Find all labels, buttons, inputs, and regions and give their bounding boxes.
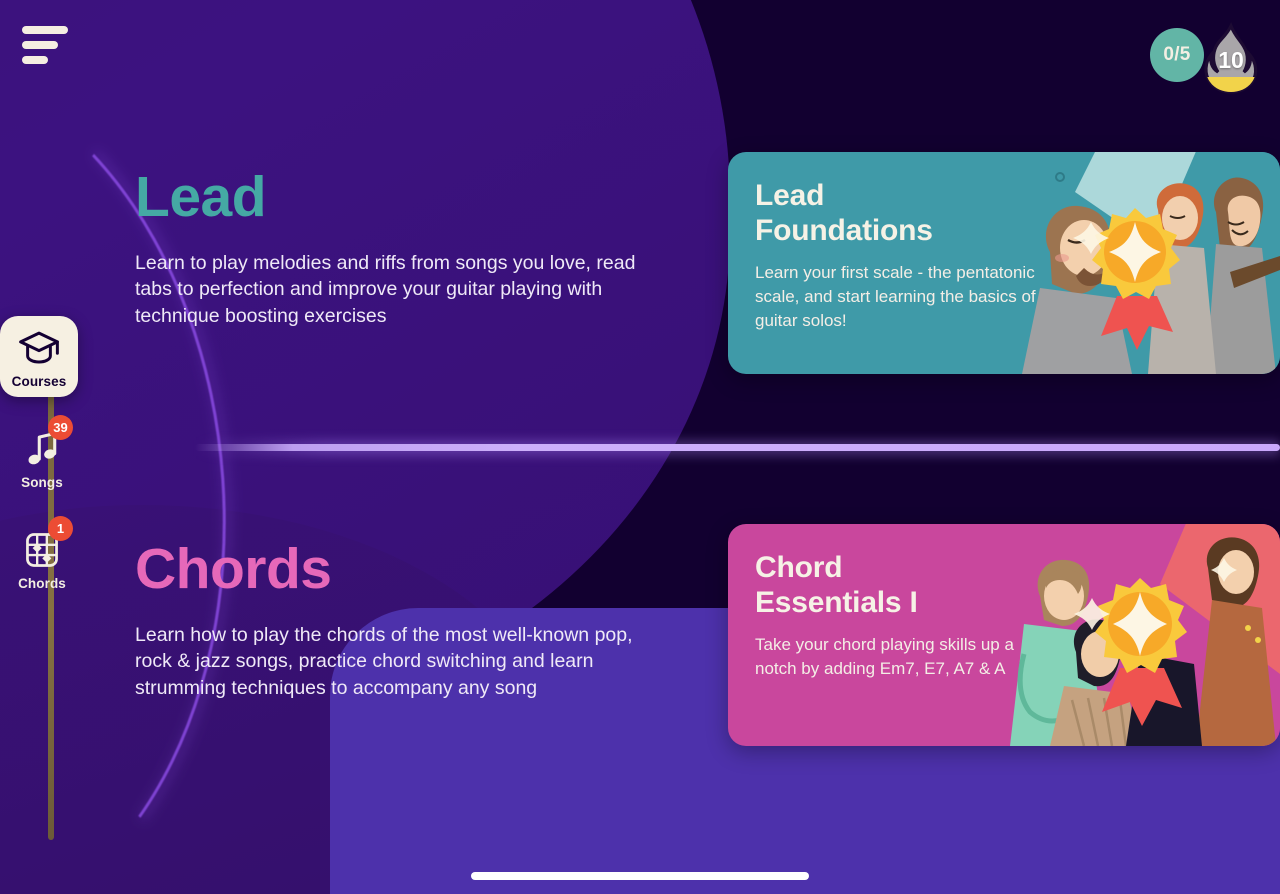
section-description: Learn to play melodies and riffs from so… xyxy=(135,250,675,330)
card-subtitle: Take your chord playing skills up a notc… xyxy=(755,633,1058,681)
card-subtitle: Learn your first scale - the pentatonic … xyxy=(755,261,1058,333)
card-title-line2: Foundations xyxy=(755,213,1058,248)
section-description: Learn how to play the chords of the most… xyxy=(135,622,655,702)
section-title: Lead xyxy=(135,168,675,228)
background-decorations xyxy=(0,0,1280,894)
hamburger-bar-1 xyxy=(22,26,68,34)
app-root: 0/5 10 Courses xyxy=(0,0,1280,894)
sidebar-item-chords[interactable]: 1 Chords xyxy=(3,520,81,599)
sidebar-badge-songs: 39 xyxy=(48,415,73,440)
sidebar: Courses 39 Songs 1 xyxy=(0,316,84,621)
sidebar-item-label: Courses xyxy=(12,374,67,389)
sidebar-item-label: Songs xyxy=(21,475,63,490)
menu-icon[interactable] xyxy=(22,26,68,64)
sidebar-badge-chords: 1 xyxy=(48,516,73,541)
progress-badge[interactable]: 0/5 xyxy=(1150,28,1204,82)
progress-badge-label: 0/5 xyxy=(1163,44,1190,66)
course-card-chord-essentials[interactable]: Chord Essentials I Take your chord playi… xyxy=(728,524,1280,746)
section-lead: Lead Learn to play melodies and riffs fr… xyxy=(135,168,675,329)
section-divider-glow xyxy=(195,440,1280,456)
sidebar-item-courses[interactable]: Courses xyxy=(0,316,78,397)
streak-badge[interactable]: 10 xyxy=(1198,22,1264,94)
card-title-line2: Essentials I xyxy=(755,585,1058,620)
card-title-line1: Chord xyxy=(755,550,1058,585)
graduation-cap-icon xyxy=(16,326,62,370)
hamburger-bar-3 xyxy=(22,56,48,64)
sidebar-item-label: Chords xyxy=(18,576,66,591)
course-card-lead-foundations[interactable]: Lead Foundations Learn your first scale … xyxy=(728,152,1280,374)
section-divider xyxy=(195,444,1280,451)
card-text-chords: Chord Essentials I Take your chord playi… xyxy=(728,524,1058,681)
section-chords: Chords Learn how to play the chords of t… xyxy=(135,540,655,701)
card-text-lead: Lead Foundations Learn your first scale … xyxy=(728,152,1058,333)
section-title: Chords xyxy=(135,540,655,600)
sidebar-item-songs[interactable]: 39 Songs xyxy=(3,419,81,498)
hamburger-bar-2 xyxy=(22,41,58,49)
streak-count-label: 10 xyxy=(1218,47,1244,74)
home-indicator xyxy=(471,872,809,880)
card-title-line1: Lead xyxy=(755,178,1058,213)
